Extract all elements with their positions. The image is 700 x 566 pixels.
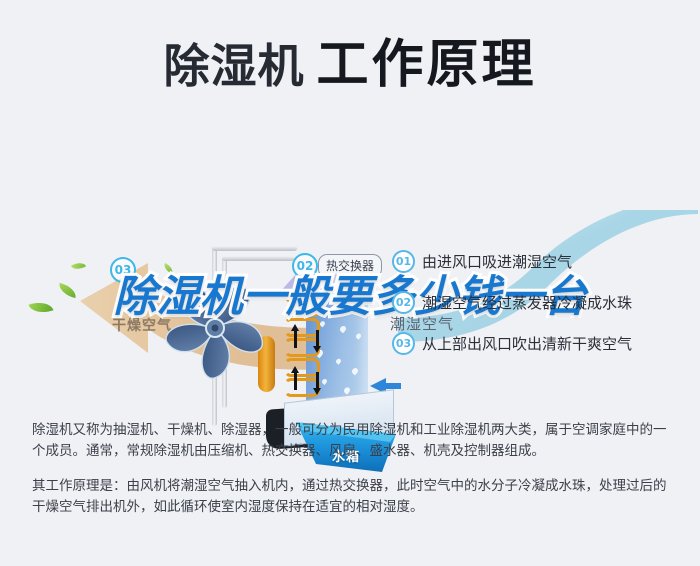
list-item: 01 由进风口吸进潮湿空气 xyxy=(392,248,692,275)
paragraph-1: 除湿机又称为抽湿机、干燥机、除湿器，一般可分为民用除湿机和工业除湿机两大类，属于… xyxy=(32,420,672,462)
refrigerant-pipe xyxy=(222,256,294,261)
step-badge: 01 xyxy=(392,250,415,273)
page-title-part1: 除湿机 xyxy=(163,39,304,93)
list-item: 02 潮湿空气经过蒸发器冷凝成水珠 xyxy=(392,289,692,316)
body-copy: 除湿机又称为抽湿机、干燥机、除湿器，一般可分为民用除湿机和工业除湿机两大类，属于… xyxy=(32,420,672,532)
page-title-part2: 工作原理 xyxy=(316,35,536,95)
step-text: 从上部出风口吹出清新干爽空气 xyxy=(422,333,632,354)
list-item: 03 从上部出风口吹出清新干爽空气 xyxy=(392,330,692,357)
step-badge: 02 xyxy=(392,291,415,314)
paragraph-2: 其工作原理是：由风机将潮湿空气抽入机内，通过热交换器，此时空气中的水分子冷凝成水… xyxy=(32,476,672,518)
step-text: 由进风口吸进潮湿空气 xyxy=(422,251,572,272)
step-text: 潮湿空气经过蒸发器冷凝成水珠 xyxy=(422,292,632,313)
step-badge: 03 xyxy=(392,332,415,355)
refrigerant-pipe xyxy=(212,246,297,251)
page-title: 除湿机工作原理 xyxy=(0,22,700,97)
steps-list: 01 由进风口吸进潮湿空气 02 潮湿空气经过蒸发器冷凝成水珠 03 从上部出风… xyxy=(392,248,692,371)
air-intake-arrow xyxy=(385,383,401,389)
